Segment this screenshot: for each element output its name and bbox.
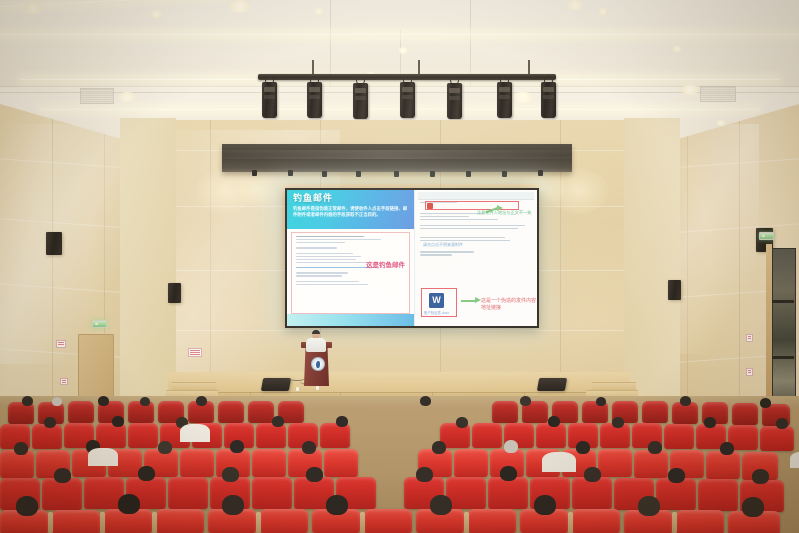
wall-speaker: [168, 283, 181, 303]
glass-exit-door[interactable]: [772, 248, 796, 415]
audience-shoulders: [542, 452, 576, 472]
annotation-box-sender: [425, 201, 519, 210]
presenter: [305, 330, 327, 352]
audience-head: [742, 497, 764, 517]
sender-avatar-icon: [427, 203, 433, 209]
audience-head: [520, 396, 531, 406]
exit-sign: [759, 232, 774, 240]
audience-head: [668, 468, 685, 483]
audience-head: [158, 441, 172, 454]
audience-head: [500, 466, 517, 481]
hvac-vent: [700, 86, 736, 102]
slide-left-panel: 钓鱼邮件 钓鱼邮件是指伪装正常邮件，诱使收件人点击手段链接、邮件附件或者邮件内嵌…: [287, 190, 414, 326]
wall-notice-sign: [746, 334, 753, 342]
audience-head: [456, 417, 468, 428]
slide-note-red: 这是一个伪造的发件内容地址链接: [481, 297, 537, 311]
stage-monitor-speaker: [537, 378, 567, 391]
audience-head: [720, 442, 734, 455]
audience-shoulders: [180, 424, 210, 442]
stage-light: [447, 83, 462, 119]
wall-notice-sign: [60, 378, 68, 385]
right-return-wall: [624, 118, 680, 410]
audience-head: [196, 396, 207, 406]
audience-head: [112, 416, 124, 427]
slide-note-blue: 请勿点击不明来源附件: [423, 242, 463, 248]
audience-head: [420, 396, 431, 406]
audience-head: [52, 397, 62, 406]
slide-note-green: 注意发件人地址与正文不一致: [477, 210, 531, 216]
slide-hero-banner: 钓鱼邮件 钓鱼邮件是指伪装正常邮件，诱使收件人点击手段链接、邮件附件或者邮件内嵌…: [287, 190, 414, 229]
stage-light: [353, 83, 368, 119]
ceiling-led-strip: [0, 33, 799, 36]
audience-head: [596, 397, 606, 406]
slide-subtitle: 钓鱼邮件是指伪装正常邮件，诱使收件人点击手段链接、邮件附件或者邮件内嵌的手段获取…: [293, 206, 409, 217]
audience-head: [548, 416, 560, 427]
presentation-screen[interactable]: 钓鱼邮件 钓鱼邮件是指伪装正常邮件，诱使收件人点击手段链接、邮件附件或者邮件内嵌…: [285, 188, 539, 328]
audience-head: [534, 495, 556, 515]
audience-head: [54, 468, 71, 483]
auditorium-scene: 钓鱼邮件 钓鱼邮件是指伪装正常邮件，诱使收件人点击手段链接、邮件附件或者邮件内嵌…: [0, 0, 799, 533]
wall-notice-sign: [56, 340, 66, 348]
presenter-torso: [306, 338, 326, 352]
audience-head: [680, 396, 691, 406]
audience-head: [776, 418, 788, 429]
audience-head: [118, 494, 140, 514]
audience-head: [752, 469, 769, 484]
audience-head: [704, 417, 716, 428]
stage-valance: [222, 144, 572, 172]
audience-head: [336, 416, 348, 427]
institution-crest-icon: [311, 357, 325, 371]
audience-head: [584, 467, 601, 482]
slide-right-panel: 注意发件人地址与正文不一致 请勿点击不明来源附件 W 账户验证表.docx 这是…: [414, 190, 537, 326]
audience-shoulders: [88, 448, 118, 466]
wall-notice-sign: [746, 368, 753, 376]
audience-head: [504, 440, 518, 453]
attachment-filename: 账户验证表.docx: [424, 310, 449, 315]
wall-notice-sign: [188, 348, 202, 357]
email-client-toolbar: [418, 192, 534, 200]
word-document-icon: W: [429, 293, 444, 308]
stage-light: [541, 82, 556, 118]
audience-seating: [0, 396, 799, 533]
audience-head: [416, 467, 433, 482]
exit-sign: [92, 320, 107, 328]
audience-head: [230, 440, 244, 453]
audience-head: [222, 495, 244, 515]
audience-shoulders: [790, 452, 799, 468]
audience-head: [272, 416, 284, 427]
audience-head: [98, 396, 109, 406]
audience-head: [612, 417, 624, 428]
stage-light: [307, 82, 322, 118]
stage-light: [497, 82, 512, 118]
slide-title: 钓鱼邮件: [293, 193, 409, 204]
hvac-vent: [80, 88, 114, 104]
audience-head: [138, 466, 155, 481]
audience-head: [576, 441, 590, 454]
wall-speaker: [668, 280, 681, 300]
door-jamb: [766, 244, 772, 414]
audience-head: [306, 467, 323, 482]
audience-head: [140, 397, 150, 406]
audience-head: [648, 441, 662, 454]
audience-head: [14, 442, 28, 455]
audience-head: [326, 495, 348, 515]
audience-head: [430, 495, 452, 515]
stage-light: [262, 82, 277, 118]
wall-speaker: [46, 232, 62, 255]
audience-head: [44, 417, 56, 428]
left-return-wall: [120, 118, 176, 410]
phishing-stamp-label: 这是钓鱼邮件: [366, 259, 405, 269]
audience-head: [222, 467, 239, 482]
stage-light: [400, 82, 415, 118]
audience-head: [302, 441, 316, 454]
phishing-email-card: 这是钓鱼邮件: [291, 232, 410, 314]
audience-head: [638, 496, 660, 516]
audience-head: [432, 441, 446, 454]
audience-head: [16, 496, 38, 516]
stage-monitor-speaker: [261, 378, 291, 391]
slide-footer-band: [287, 314, 414, 326]
audience-head: [760, 398, 771, 408]
audience-head: [22, 396, 33, 406]
